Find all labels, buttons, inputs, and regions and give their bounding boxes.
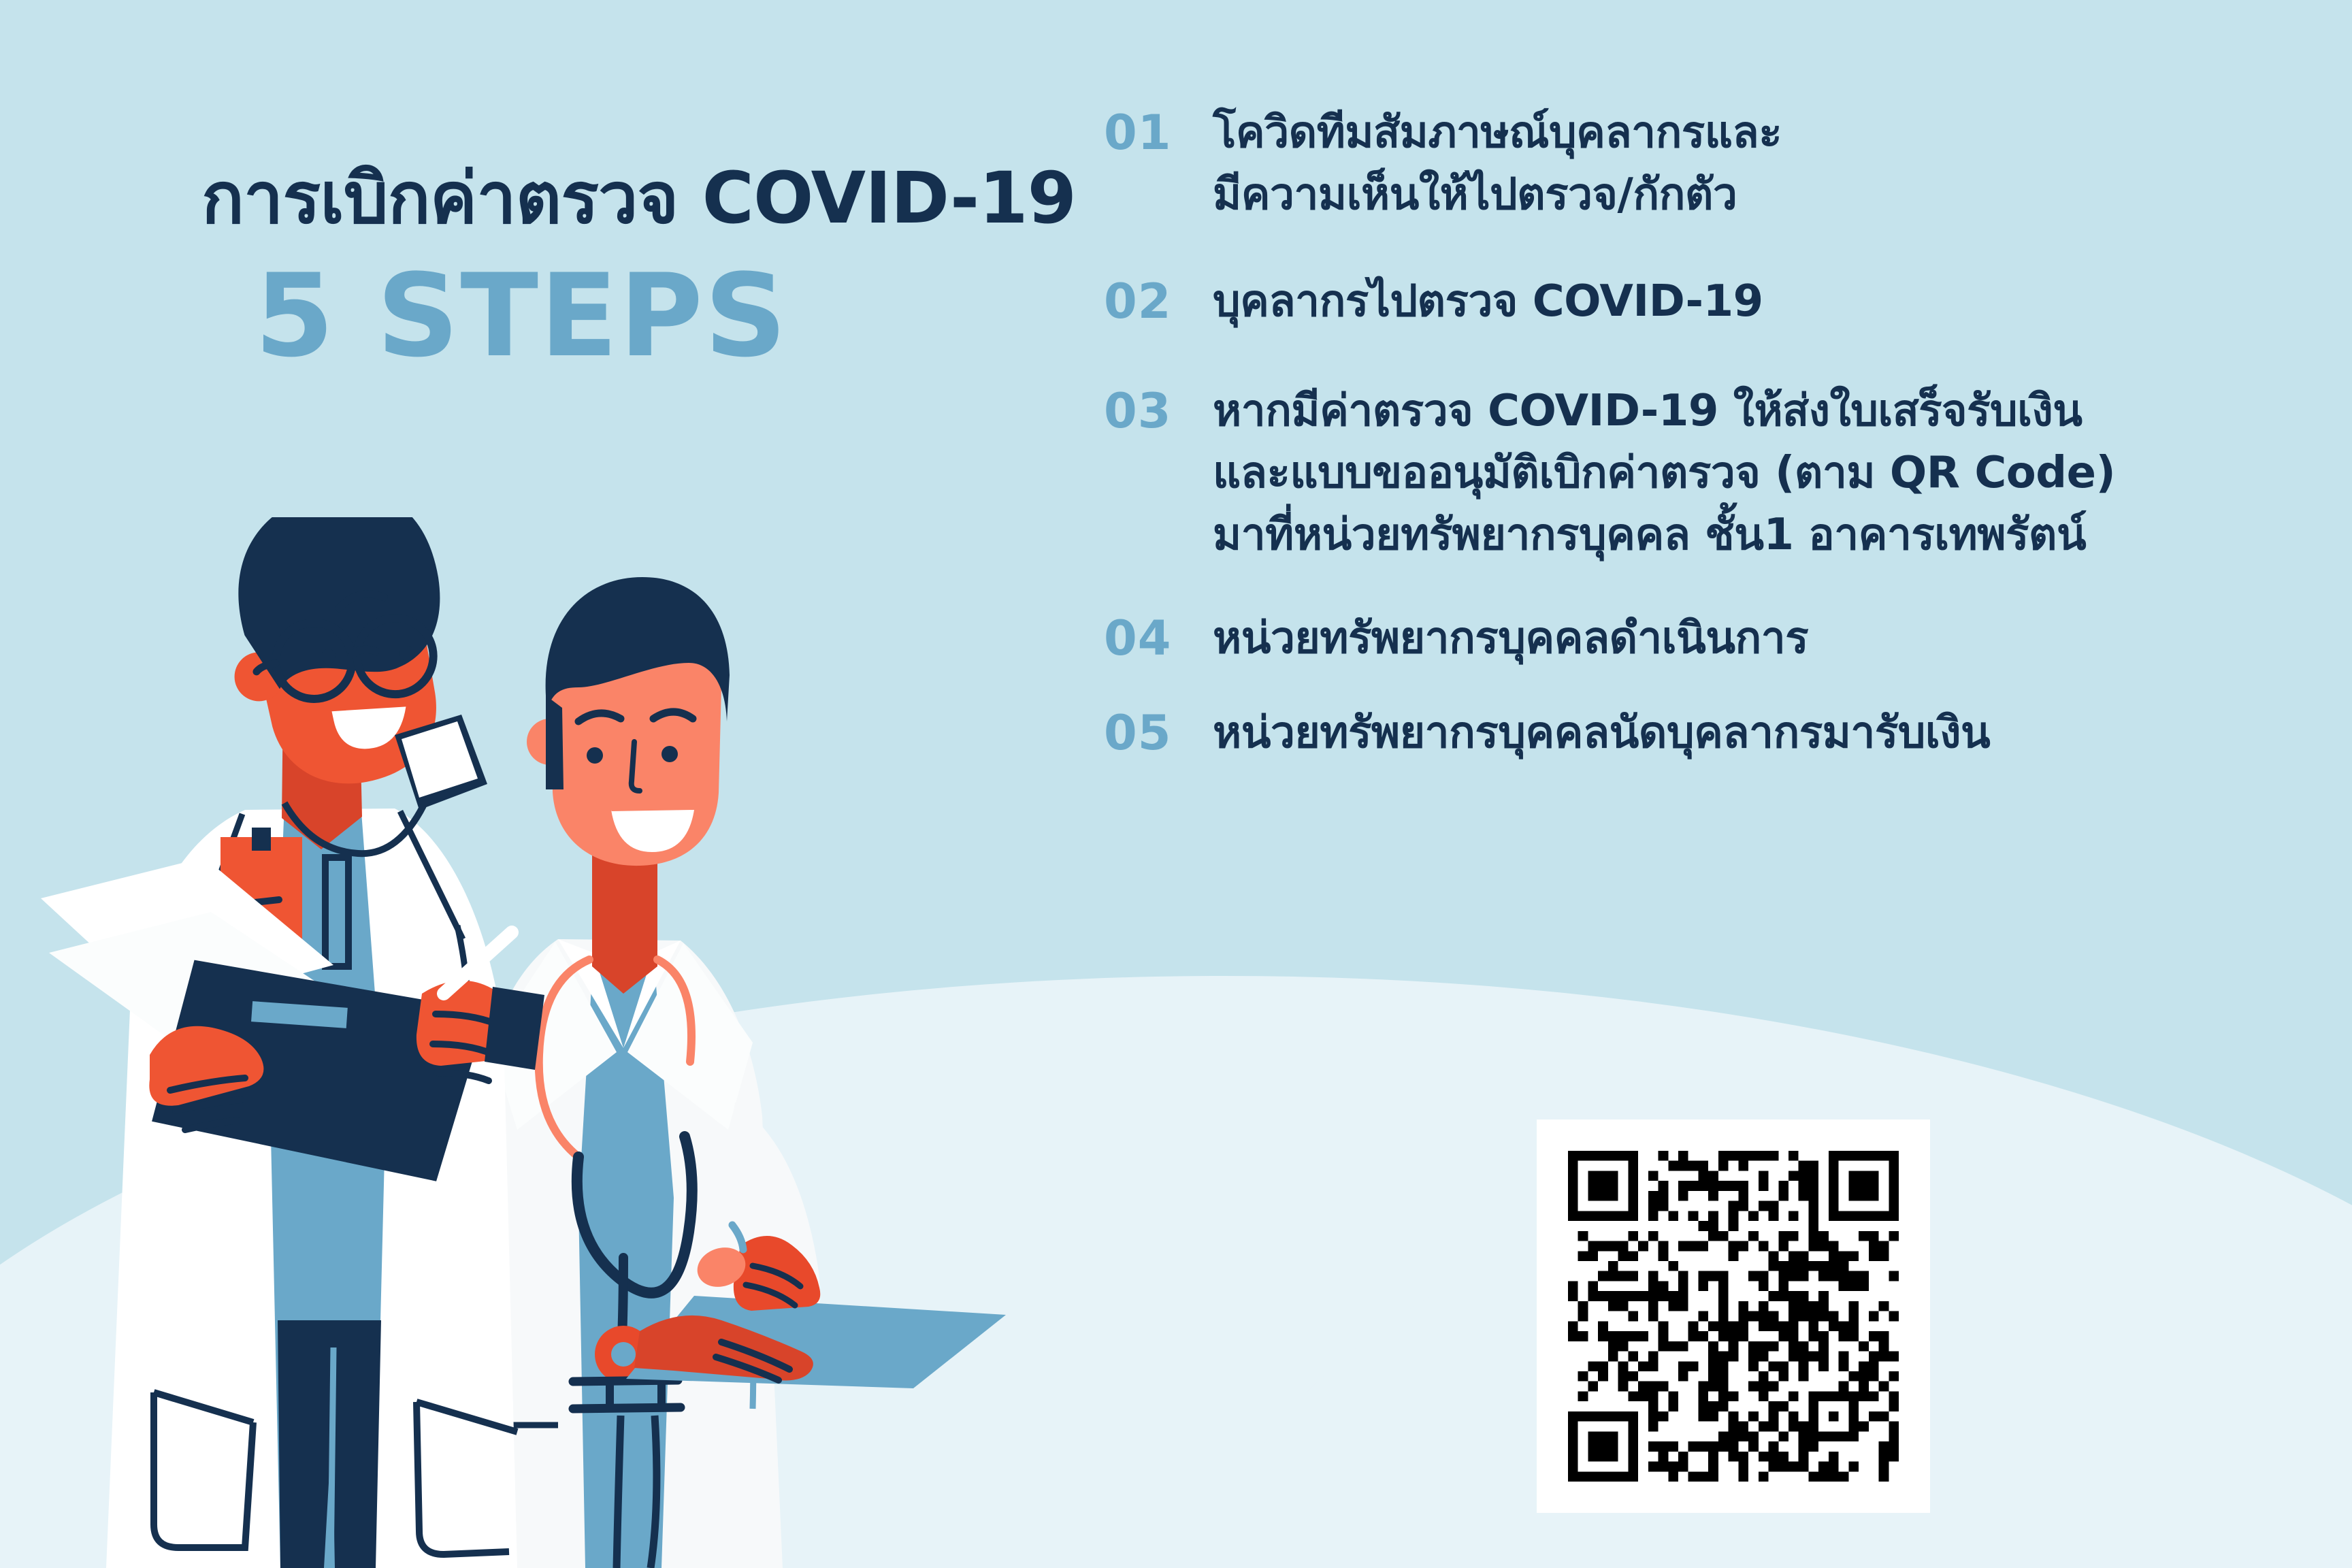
step-text-04: หน่วยทรัพยากรบุคคลดำเนินการ (1213, 608, 2322, 670)
infographic-poster: การเบิกค่าตรวจ COVID-19 5 STEPS 01 โควิด… (0, 0, 2352, 1568)
step-line: มีความเห็นให้ไปตรวจ/กักตัว (1213, 164, 2322, 226)
step-line: หน่วยทรัพยากรบุคคลนัดบุคลากรมารับเงิน (1213, 702, 2322, 764)
doctor-with-phone (41, 517, 544, 1568)
step-text-03: หากมีค่าตรวจ COVID-19 ให้ส่งใบเสร็จรับเง… (1213, 380, 2322, 566)
step-item-05: 05 หน่วยทรัพยากรบุคคลนัดบุคลากรมารับเงิน (1104, 702, 2322, 764)
step-item-01: 01 โควิดทีมสัมภาษณ์บุคลากรและ มีความเห็น… (1104, 102, 2322, 226)
step-number-03: 03 (1104, 380, 1213, 442)
doctor-with-stethoscope (456, 577, 1006, 1568)
step-line: โควิดทีมสัมภาษณ์บุคลากรและ (1213, 102, 2322, 164)
step-text-02: บุคลากรไปตรวจ COVID-19 (1213, 271, 2322, 333)
step-line: มาที่หน่วยทรัพยากรบุคคล ชั้น1 อาคารเทพรั… (1213, 504, 2322, 566)
step-line: หากมีค่าตรวจ COVID-19 ให้ส่งใบเสร็จรับเง… (1213, 380, 2322, 442)
qr-code[interactable] (1537, 1120, 1930, 1513)
step-line: หน่วยทรัพยากรบุคคลดำเนินการ (1213, 608, 2322, 670)
step-number-01: 01 (1104, 102, 1213, 164)
page-title: การเบิกค่าตรวจ COVID-19 (201, 158, 1059, 240)
step-number-04: 04 (1104, 608, 1213, 670)
headline-block: การเบิกค่าตรวจ COVID-19 5 STEPS (201, 158, 1059, 373)
step-item-04: 04 หน่วยทรัพยากรบุคคลดำเนินการ (1104, 608, 2322, 670)
step-text-01: โควิดทีมสัมภาษณ์บุคลากรและ มีความเห็นให้… (1213, 102, 2322, 226)
doctors-illustration (41, 517, 1102, 1568)
step-number-05: 05 (1104, 702, 1213, 764)
steps-list: 01 โควิดทีมสัมภาษณ์บุคลากรและ มีความเห็น… (1104, 102, 2322, 800)
step-item-03: 03 หากมีค่าตรวจ COVID-19 ให้ส่งใบเสร็จรั… (1104, 380, 2322, 566)
step-item-02: 02 บุคลากรไปตรวจ COVID-19 (1104, 271, 2322, 333)
steps-label: 5 STEPS (201, 259, 1059, 373)
step-line: และแบบขออนุมัติเบิกค่าตรวจ (ตาม QR Code) (1213, 442, 2322, 504)
qr-code-canvas (1568, 1151, 1899, 1482)
step-number-02: 02 (1104, 271, 1213, 333)
step-line: บุคลากรไปตรวจ COVID-19 (1213, 271, 2322, 333)
step-text-05: หน่วยทรัพยากรบุคคลนัดบุคลากรมารับเงิน (1213, 702, 2322, 764)
